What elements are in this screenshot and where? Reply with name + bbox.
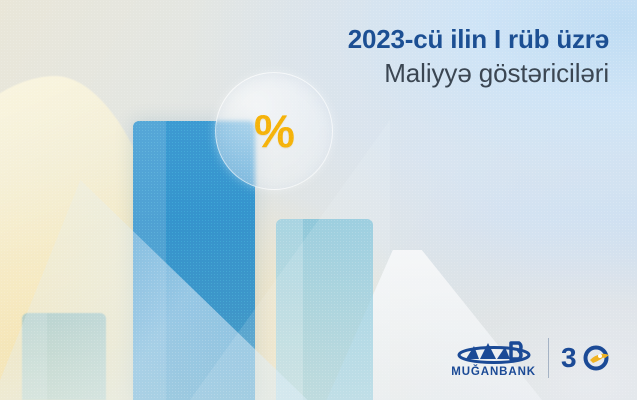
logo-divider [548,338,549,378]
logo-lockup: MUĞANBANK 3 [451,338,613,378]
muganbank-logo: MUĞANBANK [451,339,536,378]
financial-results-banner: % 2023-cü ilin I rüb üzrə Maliyyə göstər… [0,0,637,400]
chart-bar-3 [276,219,373,400]
chart-bar-3-highlight [276,219,303,400]
headline-line-2: Maliyyə göstəriciləri [348,58,609,89]
anniversary-mark: 3 [561,341,613,375]
svg-text:3: 3 [561,342,576,373]
headline-line-1: 2023-cü ilin I rüb üzrə [348,24,609,55]
headline-block: 2023-cü ilin I rüb üzrə Maliyyə göstəric… [348,24,609,89]
muganbank-mountain-logo [457,339,531,365]
percent-badge: % [215,72,333,190]
muganbank-wordmark: MUĞANBANK [451,366,536,378]
thirty-years-anniversary-mark: 3 [561,341,613,375]
percent-icon: % [254,108,294,154]
